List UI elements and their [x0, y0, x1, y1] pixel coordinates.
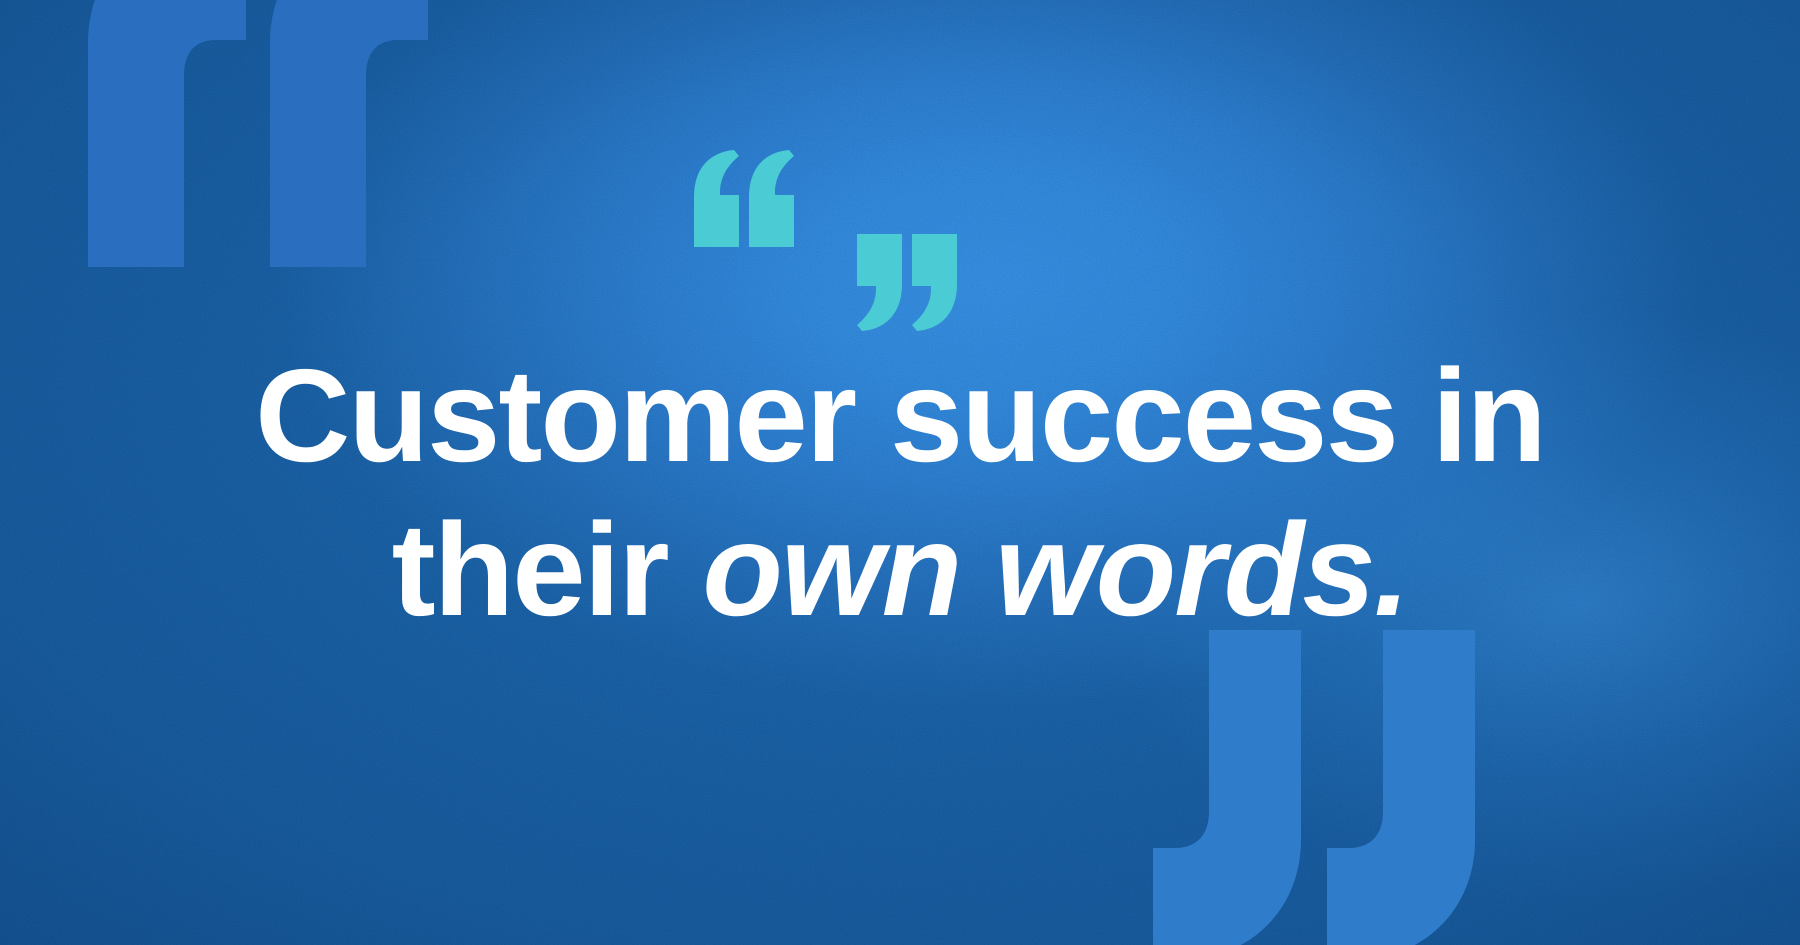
quote-hero-banner: Customer success in their own words. [0, 0, 1800, 945]
teal-open-quote-icon [694, 150, 794, 247]
headline-line-1: Customer success in [0, 339, 1800, 493]
headline: Customer success in their own words. [0, 339, 1800, 648]
headline-emphasis: own words [702, 496, 1373, 643]
headline-line-2: their own words. [0, 493, 1800, 647]
headline-line-2-suffix: . [1374, 496, 1409, 643]
headline-line-2-prefix: their [392, 496, 703, 643]
teal-close-quote-icon [857, 234, 957, 331]
